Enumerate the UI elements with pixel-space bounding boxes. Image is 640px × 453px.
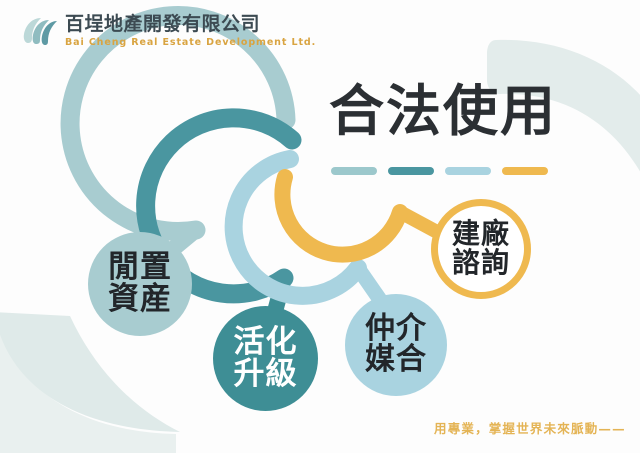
bubble-idle-asset-line1: 閒置 [108, 252, 172, 284]
poster-canvas: 百埕地產開發有限公司 Bai Cheng Real Estate Develop… [0, 0, 640, 453]
bubble-plant-consulting-line2: 諮詢 [452, 249, 510, 278]
dash-pale-teal [331, 167, 377, 175]
logo-company-name-en: Bai Cheng Real Estate Development Ltd. [65, 38, 316, 48]
footer-tagline: 用專業，掌握世界未來脈動—— [434, 418, 626, 437]
bubble-broker-match-line1: 仲介 [365, 314, 427, 345]
arc-gold-shape [282, 177, 400, 255]
company-logo: 百埕地產開發有限公司 Bai Cheng Real Estate Develop… [22, 15, 316, 48]
dash-gold [502, 167, 548, 175]
bubble-activate-upgrade[interactable]: 活化 升級 [213, 306, 318, 411]
bubble-plant-consulting-line1: 建廠 [452, 220, 510, 249]
bubble-idle-asset[interactable]: 閒置 資産 [88, 232, 192, 336]
dash-divider [331, 167, 548, 175]
arc-diagram-layer [0, 0, 640, 453]
bubble-idle-asset-line2: 資産 [108, 284, 172, 316]
logo-text-block: 百埕地產開發有限公司 Bai Cheng Real Estate Develop… [65, 15, 316, 48]
dash-light-blue [445, 167, 491, 175]
bubble-broker-match[interactable]: 仲介 媒合 [345, 294, 447, 396]
logo-company-name-cn: 百埕地產開發有限公司 [65, 15, 316, 34]
wave-leaf-logo-icon [22, 16, 58, 46]
bubble-broker-match-line2: 媒合 [365, 345, 427, 376]
bubble-activate-upgrade-line1: 活化 [234, 327, 298, 359]
bubble-plant-consulting[interactable]: 建廠 諮詢 [431, 199, 531, 299]
dash-deep-teal [388, 167, 434, 175]
page-title: 合法使用 [329, 84, 557, 139]
bubble-activate-upgrade-line2: 升級 [234, 359, 298, 391]
